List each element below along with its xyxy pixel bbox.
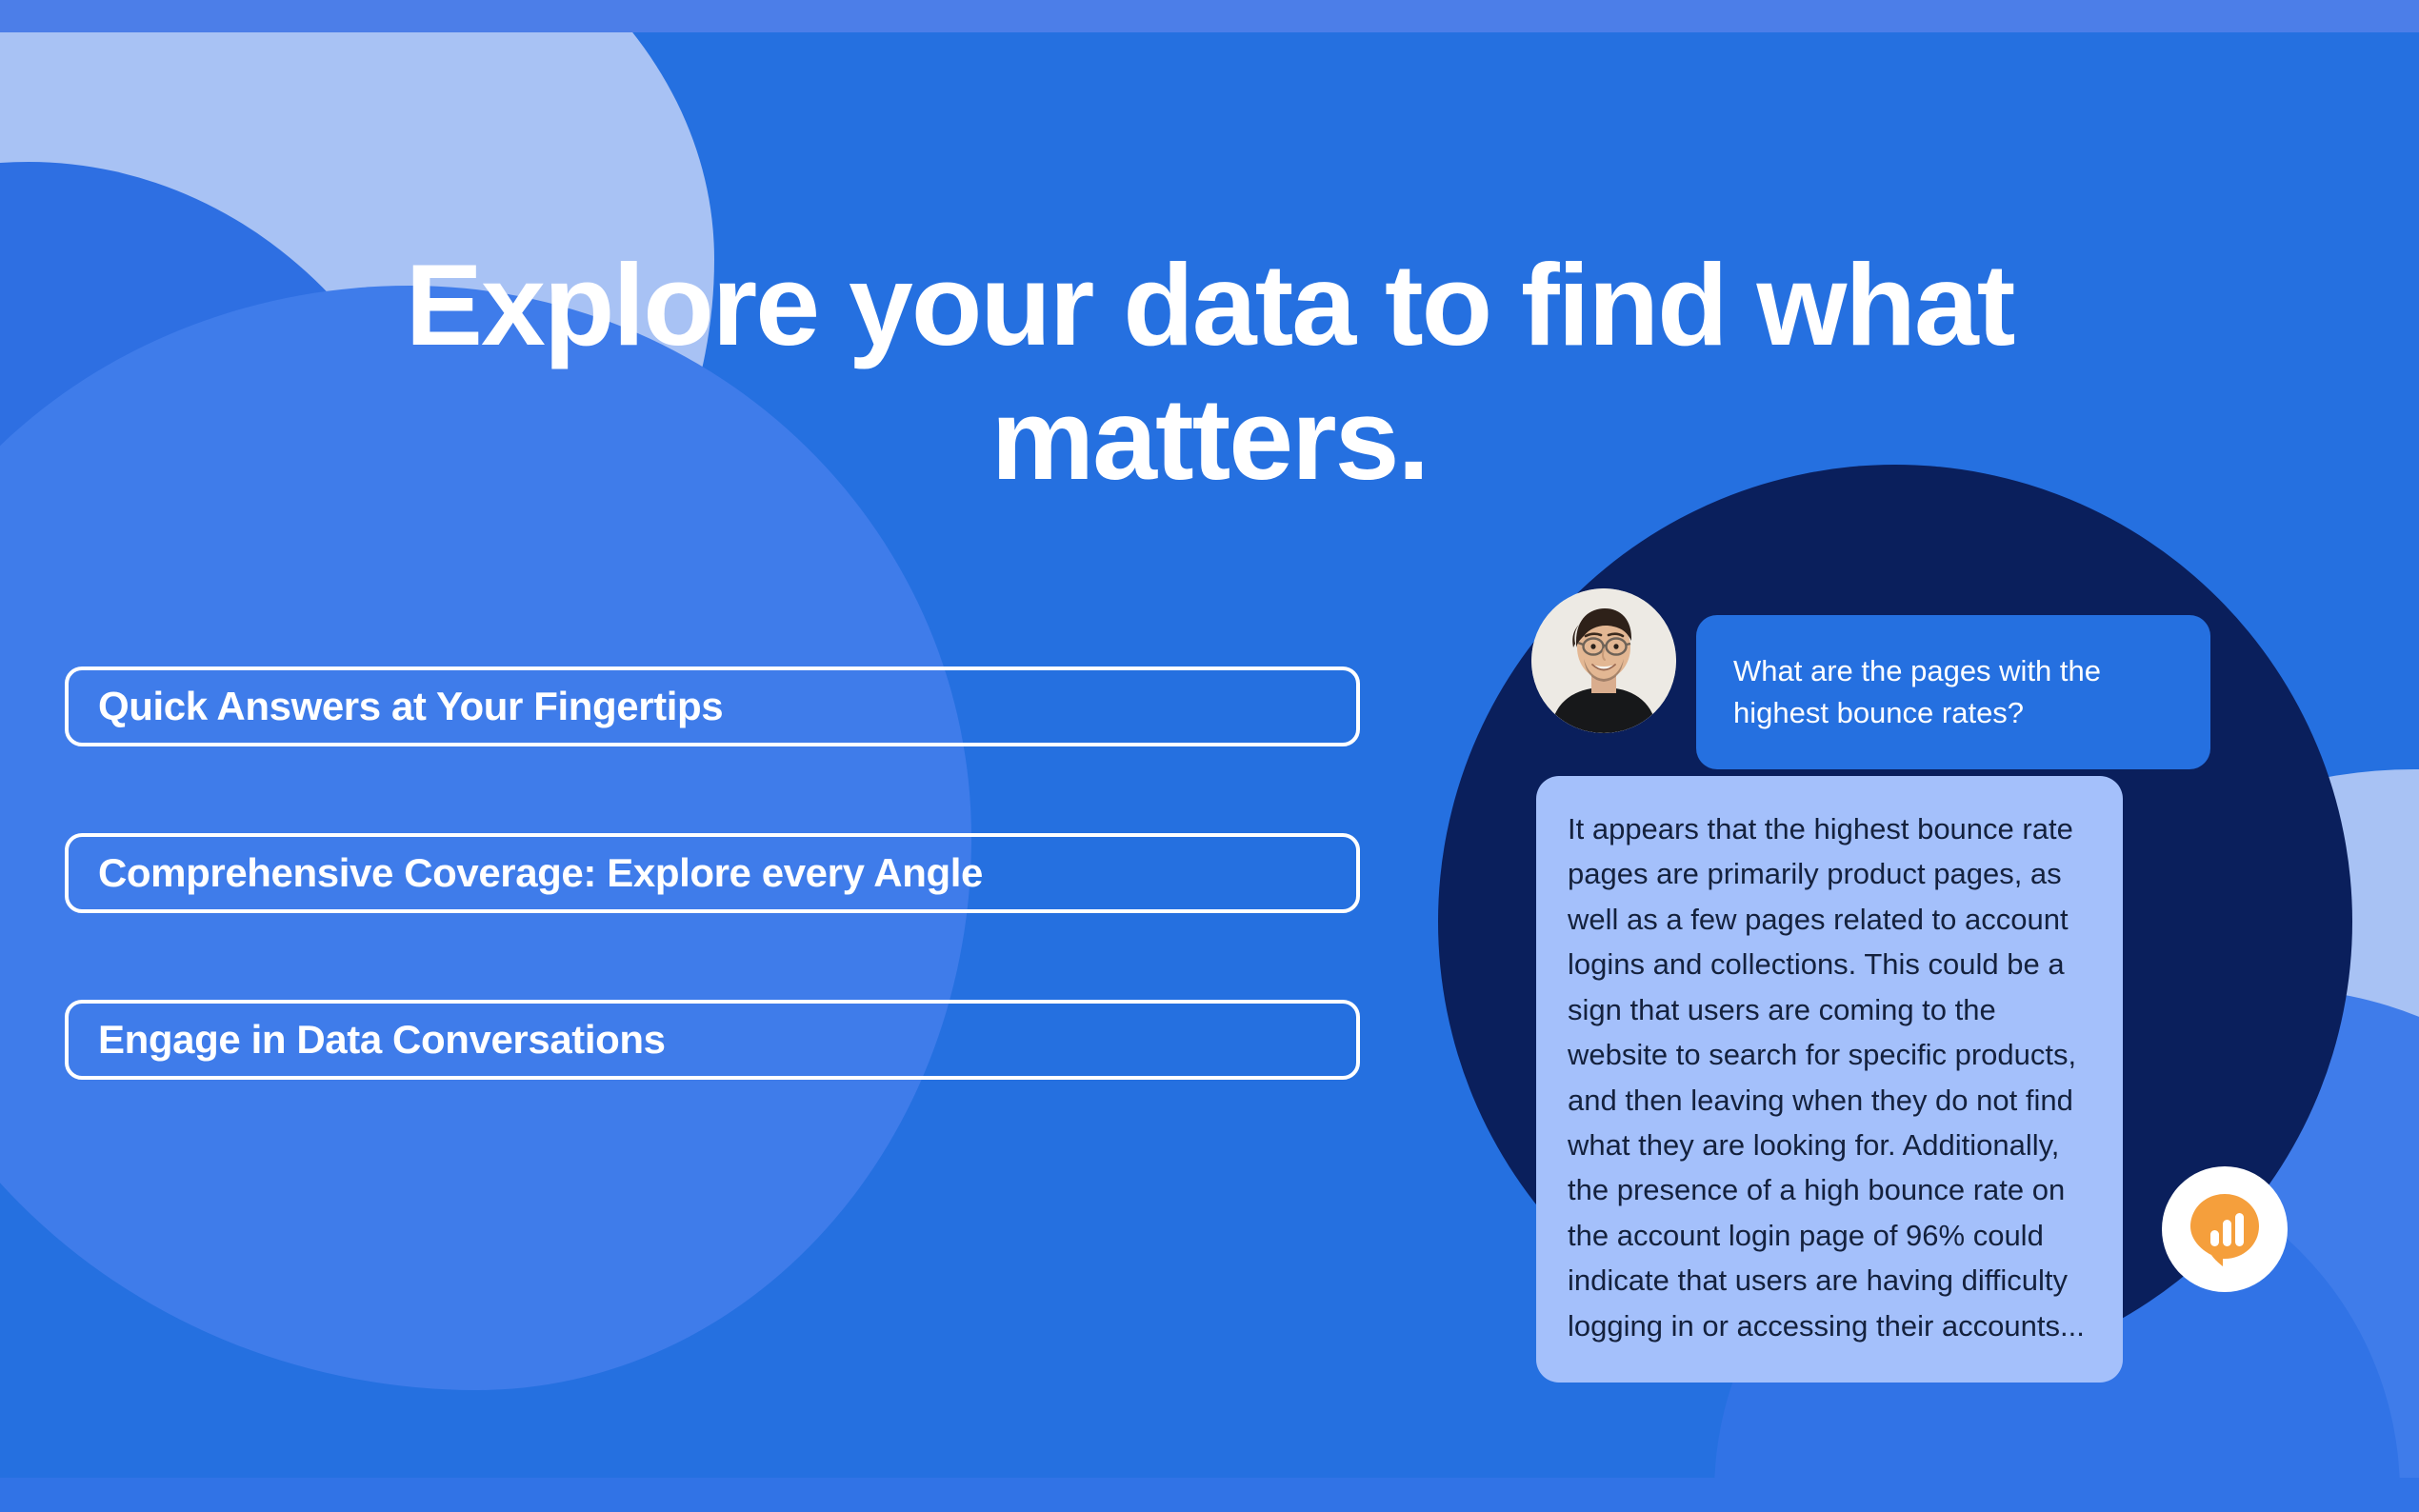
product-logo-badge [2162, 1166, 2288, 1292]
top-edge-band [0, 0, 2419, 32]
chat-bar-chart-logo [2184, 1188, 2266, 1270]
user-question-bubble: What are the pages with the highest boun… [1696, 615, 2210, 769]
page-title: Explore your data to find what matters. [0, 238, 2419, 507]
feature-pill-comprehensive-coverage[interactable]: Comprehensive Coverage: Explore every An… [65, 833, 1360, 913]
assistant-answer-text: It appears that the highest bounce rate … [1568, 812, 2085, 1343]
user-avatar-photo [1531, 588, 1676, 733]
slide-canvas: Explore your data to find what matters. … [0, 0, 2419, 1512]
feature-pill-label: Quick Answers at Your Fingertips [98, 684, 723, 729]
feature-pill-quick-answers[interactable]: Quick Answers at Your Fingertips [65, 666, 1360, 746]
feature-pill-data-conversations[interactable]: Engage in Data Conversations [65, 1000, 1360, 1080]
chat-message-user: What are the pages with the highest boun… [1531, 588, 2210, 769]
chat-illustration: What are the pages with the highest boun… [1381, 448, 2419, 1400]
bottom-edge-band [0, 1478, 2419, 1512]
user-question-text: What are the pages with the highest boun… [1733, 654, 2101, 729]
avatar [1531, 588, 1676, 733]
feature-pill-label: Engage in Data Conversations [98, 1017, 666, 1063]
assistant-answer-bubble: It appears that the highest bounce rate … [1536, 776, 2123, 1383]
feature-list: Quick Answers at Your Fingertips Compreh… [65, 666, 1360, 1080]
feature-pill-label: Comprehensive Coverage: Explore every An… [98, 850, 983, 896]
